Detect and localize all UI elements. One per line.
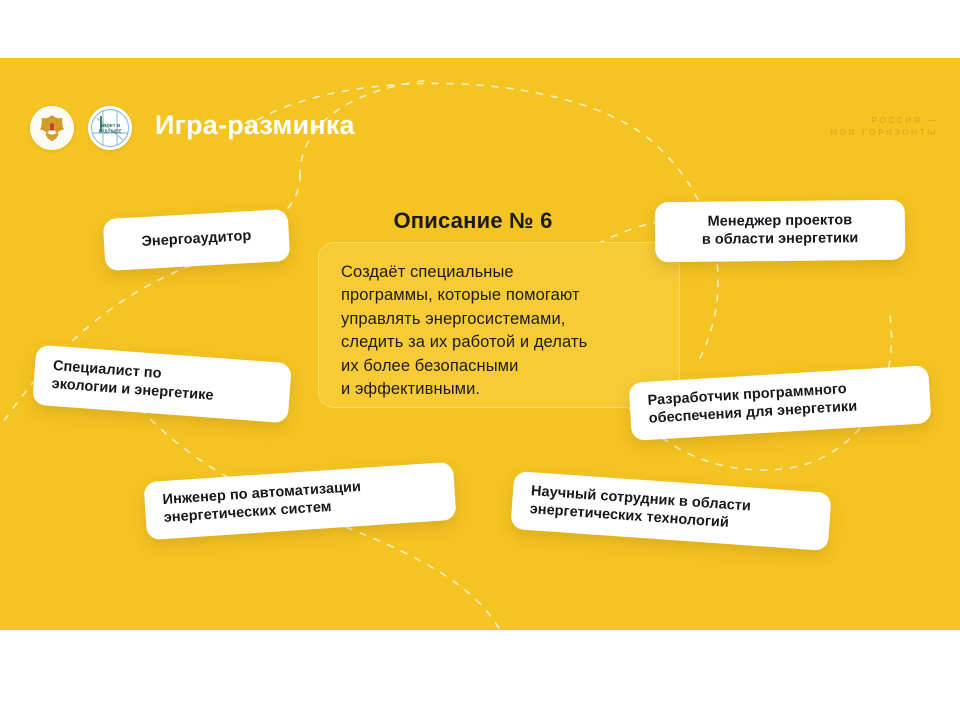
- slide-root: БИЛЕТ В БУДУЩЕЕ Игра-разминка РОССИЯ — М…: [0, 0, 960, 720]
- profession-card-engineer[interactable]: Инженер по автоматизации энергетических …: [143, 462, 456, 540]
- slide-header: БИЛЕТ В БУДУЩЕЕ Игра-разминка РОССИЯ — М…: [0, 58, 960, 168]
- description-title: Описание № 6: [318, 208, 628, 234]
- page-title: Игра-разминка: [155, 110, 355, 141]
- svg-text:БУДУЩЕЕ: БУДУЩЕЕ: [99, 129, 122, 134]
- profession-card-ecology[interactable]: Специалист по экологии и энергетике: [32, 345, 292, 424]
- profession-card-label: Разработчик программного обеспечения для…: [647, 381, 858, 429]
- profession-card-label: Энергоаудитор: [141, 228, 252, 252]
- brandmark: РОССИЯ — МОИ ГОРИЗОНТЫ: [830, 114, 938, 139]
- brandmark-line-1: РОССИЯ —: [830, 114, 938, 126]
- description-text: Создаёт специальные программы, которые п…: [341, 261, 659, 402]
- brandmark-line-2: МОИ ГОРИЗОНТЫ: [830, 126, 938, 138]
- profession-card-label: Менеджер проектов в области энергетики: [702, 212, 859, 249]
- profession-card-label: Инженер по автоматизации энергетических …: [162, 479, 363, 527]
- russian-coat-of-arms-logo-icon: [30, 106, 74, 150]
- profession-card-label: Специалист по экологии и энергетике: [51, 358, 215, 405]
- profession-card-scientist[interactable]: Научный сотрудник в области энергетическ…: [510, 471, 831, 551]
- svg-text:БИЛЕТ В: БИЛЕТ В: [100, 123, 121, 128]
- profession-card-energoauditor[interactable]: Энергоаудитор: [103, 209, 291, 271]
- profession-card-manager[interactable]: Менеджер проектов в области энергетики: [655, 200, 906, 263]
- description-card: Создаёт специальные программы, которые п…: [318, 242, 680, 408]
- profession-card-label: Научный сотрудник в области энергетическ…: [529, 484, 751, 535]
- bilet-v-budushchee-logo-icon: БИЛЕТ В БУДУЩЕЕ: [88, 106, 132, 150]
- slide-stage: БИЛЕТ В БУДУЩЕЕ Игра-разминка РОССИЯ — М…: [0, 58, 960, 630]
